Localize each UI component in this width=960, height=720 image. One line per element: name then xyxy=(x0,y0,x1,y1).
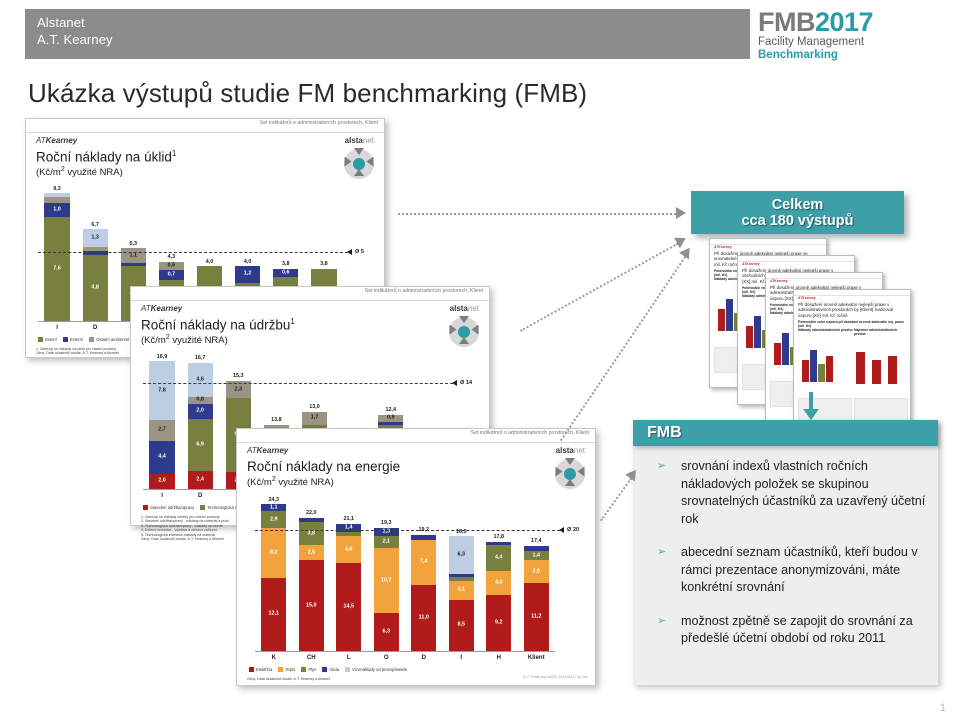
thumb-subtitle: Potenciální roční úspora při dosažení úr… xyxy=(798,320,906,328)
connector-chart2-to-callout xyxy=(520,243,678,332)
legend-swatch xyxy=(345,667,350,672)
fmb-info-panel: FMB ➢srovnání indexů vlastních ročních n… xyxy=(633,420,938,685)
wheel-badge-icon xyxy=(449,317,479,347)
segment-value: 1,4 xyxy=(524,553,549,558)
segment-value: 9,2 xyxy=(486,621,511,626)
legend-swatch xyxy=(278,667,283,672)
alstanet-brand: alstanet xyxy=(345,136,374,145)
segment-value: 0,6 xyxy=(273,270,298,275)
bar-segment: 2,9 xyxy=(261,511,286,529)
plot-area: 1,12,98,212,124,3K3,82,515,022,0CH1,44,6… xyxy=(255,491,555,651)
segment-value: 4,6 xyxy=(336,547,361,552)
bar-segment: 7,8 xyxy=(149,361,174,420)
bar-segment: 4,6 xyxy=(336,536,361,564)
bar-segment: 10,7 xyxy=(374,548,399,613)
x-axis-label: D xyxy=(181,493,219,499)
company-name-line2: A.T. Kearney xyxy=(37,32,113,47)
x-axis-label: K xyxy=(255,655,293,661)
bullet-item: ➢abecední seznam účastníků, kteří budou … xyxy=(647,544,928,597)
segment-value: 4,6 xyxy=(188,377,213,382)
thumb-col-right: Nájemné administrativních prostor xyxy=(854,328,906,336)
average-label: Ø 14 xyxy=(460,380,472,386)
alstanet-brand: alstanet xyxy=(556,446,585,455)
legend-swatch xyxy=(63,337,68,342)
bar-segment: 1,4 xyxy=(524,551,549,559)
logo-subtitle-1: Facility Management xyxy=(758,36,925,49)
bar-segment: 2,5 xyxy=(299,545,324,560)
chart-legend: ElektřinaTeploPlynVodaVícenáklady od pro… xyxy=(249,667,413,672)
bar-segment: 15,0 xyxy=(299,560,324,651)
bar-segment: 7,6 xyxy=(44,217,69,321)
segment-value: 0,6 xyxy=(159,263,184,268)
segment-value: 1,3 xyxy=(83,235,108,240)
bar-segment: 3,8 xyxy=(299,522,324,545)
average-line xyxy=(255,530,560,531)
legend-swatch xyxy=(249,667,254,672)
connector-chart1-to-callout-head xyxy=(676,207,686,219)
company-name-line1: Alstanet xyxy=(37,15,85,30)
bar-segment: 6,3 xyxy=(374,613,399,651)
segment-value: 2,0 xyxy=(188,408,213,413)
bar-segment: 0,6 xyxy=(273,269,298,277)
bullet-text: srovnání indexů vlastních ročních náklad… xyxy=(681,458,928,528)
fmb-panel-header: FMB xyxy=(633,420,938,446)
segment-value: 2,7 xyxy=(149,428,174,433)
segment-value: 7,6 xyxy=(44,266,69,271)
bar-segment: 8,5 xyxy=(449,600,474,651)
chart-title: Roční náklady na energie xyxy=(247,459,400,474)
legend-label: Plyn xyxy=(308,667,316,672)
bar-segment: 1,1 xyxy=(121,248,146,263)
bar-total-value: 19,3 xyxy=(374,520,399,526)
alstanet-brand: alstanet xyxy=(450,304,479,313)
callout-line-1: Celkem xyxy=(691,197,904,213)
chart-title: Roční náklady na údržbu1 xyxy=(141,317,295,333)
segment-value: 8,5 xyxy=(449,623,474,628)
chart-subtitle: (Kč/m2 využité NRA) xyxy=(36,166,123,178)
logo-subtitle-2: Benchmarking xyxy=(758,49,925,62)
segment-value: 1,0 xyxy=(44,207,69,212)
bar-column: 1,07,69,3 xyxy=(44,193,69,321)
bar-total-value: 13,8 xyxy=(264,417,289,423)
thumb-mini-bar xyxy=(754,316,761,348)
bar-segment: 7,4 xyxy=(411,540,436,585)
bar-segment: 6,3 xyxy=(449,536,474,574)
card-topbar-text: Set indikátorů o administrativních prost… xyxy=(260,120,378,126)
thumb-mini-bar xyxy=(888,356,897,384)
bar-column: 1,44,614,521,1 xyxy=(336,524,361,651)
x-axis-label: O xyxy=(368,655,406,661)
bar-segment: 1,3 xyxy=(374,528,399,536)
legend-label: Externí xyxy=(70,337,83,342)
x-axis-label: L xyxy=(330,655,368,661)
bar-segment: 2,0 xyxy=(188,404,213,419)
wheel-badge-icon xyxy=(344,149,374,179)
bar-column: 1,12,98,212,124,3 xyxy=(261,504,286,651)
bar-total-value: 22,0 xyxy=(299,510,324,516)
x-axis-label: I xyxy=(443,655,481,661)
thumb-mini-bar xyxy=(802,360,809,382)
thumb-brand: ATKearney xyxy=(742,262,760,266)
segment-value: 4,4 xyxy=(486,555,511,560)
card-topbar-text: Set indikátorů o administrativních prost… xyxy=(365,288,483,294)
bullet-text: možnost zpětně se zapojit do srovnání za… xyxy=(681,613,928,648)
thumb-mini-bar xyxy=(726,299,733,331)
bar-total-value: 4,0 xyxy=(197,259,222,265)
bar-column: 7,411,019,2 xyxy=(411,535,436,652)
thumb-brand: ATKearney xyxy=(770,279,788,283)
legend-swatch xyxy=(143,505,148,510)
bar-segment: 2,0 xyxy=(149,474,174,489)
card-topbar-text: Set indikátorů o administrativních prost… xyxy=(471,430,589,436)
bullet-marker-icon: ➢ xyxy=(657,545,666,558)
bar-column: 7,82,74,42,016,9 xyxy=(149,361,174,489)
segment-value: 11,0 xyxy=(411,615,436,620)
thumb-mini-bar xyxy=(782,333,789,365)
segment-value: 1,1 xyxy=(121,253,146,258)
bar-total-value: 6,7 xyxy=(83,222,108,228)
bar-segment: 1,7 xyxy=(302,412,327,425)
x-axis-label: D xyxy=(76,325,114,331)
segment-value: 15,0 xyxy=(299,603,324,608)
segment-value: 8,2 xyxy=(261,551,286,556)
x-axis-label: H xyxy=(480,655,518,661)
atkearney-brand: ATKearney xyxy=(247,446,288,455)
bar-segment: 0,9 xyxy=(378,415,403,422)
segment-value: 7,8 xyxy=(149,388,174,393)
bar-total-value: 5,3 xyxy=(121,241,146,247)
page-number: 1 xyxy=(940,702,946,714)
x-axis-label: Klient xyxy=(518,655,556,661)
legend-label: Voda xyxy=(329,667,339,672)
bullet-text: abecední seznam účastníků, kteří budou v… xyxy=(681,544,928,597)
thumb-mini-bar xyxy=(826,356,833,382)
bar-segment: 2,7 xyxy=(149,420,174,440)
segment-value: 3,9 xyxy=(524,569,549,574)
atkearney-brand: ATKearney xyxy=(141,304,182,313)
bar-segment: 2,4 xyxy=(188,471,213,489)
legend-label: Elektřina xyxy=(256,667,272,672)
bar-column: 3,82,515,022,0 xyxy=(299,518,324,651)
bar-segment: 11,0 xyxy=(411,585,436,651)
average-line xyxy=(38,252,348,253)
segment-value: 7,4 xyxy=(411,560,436,565)
bar-column: 1,34,86,7 xyxy=(83,229,108,321)
bar-segment: 4,0 xyxy=(486,571,511,595)
bar-total-value: 21,1 xyxy=(336,516,361,522)
legend-label: Teplo xyxy=(285,667,295,672)
bar-total-value: 16,7 xyxy=(188,355,213,361)
bar-column: 1,32,110,76,319,3 xyxy=(374,528,399,651)
callout-line-2: cca 180 výstupů xyxy=(691,213,904,229)
segment-value: 2,3 xyxy=(226,387,251,392)
bar-segment: 6,9 xyxy=(188,419,213,471)
segment-value: 0,8 xyxy=(188,398,213,403)
bar-segment: 0,7 xyxy=(159,270,184,280)
segment-value: 4,8 xyxy=(83,285,108,290)
bar-segment: 14,5 xyxy=(336,563,361,651)
logo-main-text: FMB xyxy=(758,7,815,37)
bar-segment: 9,2 xyxy=(486,595,511,651)
bar-total-value: 3,8 xyxy=(273,261,298,267)
x-axis-label: I xyxy=(38,325,76,331)
bullet-item: ➢možnost zpětně se zapojit do srovnání z… xyxy=(647,613,928,648)
bar-column: 6,33,18,518,5 xyxy=(449,536,474,651)
bar-segment: 1,0 xyxy=(44,203,69,217)
bar-column: 1,43,911,217,4 xyxy=(524,546,549,651)
segment-value: 6,3 xyxy=(449,553,474,558)
bar-total-value: 17,4 xyxy=(524,538,549,544)
thumb-mini-bar xyxy=(856,352,865,384)
average-line xyxy=(143,383,453,384)
average-label: Ø 20 xyxy=(567,527,579,533)
bar-total-value: 3,8 xyxy=(311,261,336,267)
bar-segment: 12,1 xyxy=(261,578,286,651)
segment-value: 0,7 xyxy=(159,272,184,277)
connector-chart3-to-callout-head xyxy=(679,245,695,260)
thumb-mini-bar xyxy=(774,343,781,365)
chart-legend: InterníExterníOstatní ambientní xyxy=(38,337,135,342)
thumb-mini-bar xyxy=(810,350,817,382)
connector-chart1-to-callout xyxy=(398,213,676,215)
card-topbar: Set indikátorů o administrativních prost… xyxy=(26,119,384,133)
bar-total-value: 24,3 xyxy=(261,497,286,503)
bar-total-value: 17,8 xyxy=(486,534,511,540)
x-axis-label: D xyxy=(405,655,443,661)
segment-value: 3,8 xyxy=(299,531,324,536)
segment-value: 4,0 xyxy=(486,581,511,586)
legend-swatch xyxy=(200,505,205,510)
bar-segment: 1,2 xyxy=(235,266,260,282)
x-axis xyxy=(255,651,555,652)
connector-chart3-to-callout xyxy=(560,256,686,441)
thumb-mini-bar xyxy=(746,326,753,348)
bullet-marker-icon: ➢ xyxy=(657,614,666,627)
thumb-brand: ATKearney xyxy=(798,296,816,300)
bar-total-value: 4,3 xyxy=(159,254,184,260)
thumb-mini-bar xyxy=(872,360,881,384)
segment-value: 10,7 xyxy=(374,578,399,583)
segment-value: 1,2 xyxy=(235,272,260,277)
thumb-title: Při dosažení úrovně adekvátní nejlepší p… xyxy=(798,302,906,318)
x-axis-label: CH xyxy=(293,655,331,661)
card-topbar: Set indikátorů o administrativních prost… xyxy=(131,287,489,301)
chart-subtitle: (Kč/m2 využité NRA) xyxy=(141,334,228,346)
fmb-panel-heading: FMB xyxy=(647,424,682,442)
segment-value: 2,5 xyxy=(299,550,324,555)
average-label: Ø 5 xyxy=(355,249,364,255)
x-axis-label: I xyxy=(143,493,181,499)
chart-title: Roční náklady na úklid1 xyxy=(36,149,176,165)
bar-total-value: 16,9 xyxy=(149,354,174,360)
bullet-marker-icon: ➢ xyxy=(657,459,666,472)
bar-segment: 11,2 xyxy=(524,583,549,651)
bar-column: 4,44,09,217,8 xyxy=(486,542,511,651)
bar-segment: 1,1 xyxy=(261,504,286,511)
segment-value: 2,9 xyxy=(261,517,286,522)
fmb-logo: FMB2017 Facility Management Benchmarking xyxy=(750,8,925,63)
bar-segment: 4,6 xyxy=(188,363,213,398)
bar-segment: 8,2 xyxy=(261,528,286,578)
legend-swatch xyxy=(38,337,43,342)
chart-subtitle: (Kč/m2 využité NRA) xyxy=(247,476,334,488)
legend-label: Interní xyxy=(45,337,57,342)
legend-label: Ostatní ambientní xyxy=(96,337,129,342)
segment-value: 14,5 xyxy=(336,605,361,610)
segment-value: 1,7 xyxy=(302,416,327,421)
callout-total-outputs: Celkem cca 180 výstupů xyxy=(691,191,904,234)
legend-swatch xyxy=(322,667,327,672)
legend-swatch xyxy=(89,337,94,342)
wheel-badge-icon xyxy=(555,459,585,489)
legend-label: Stavební údržba/opravy xyxy=(150,505,194,510)
segment-value: 12,1 xyxy=(261,612,286,617)
bar-segment: 4,4 xyxy=(486,545,511,572)
bar-segment: 4,4 xyxy=(149,441,174,474)
bar-total-value: 4,0 xyxy=(235,259,260,265)
segment-value: 6,3 xyxy=(374,629,399,634)
segment-value: 4,4 xyxy=(149,455,174,460)
thumb-mini-bar xyxy=(818,364,825,382)
page-title: Ukázka výstupů studie FM benchmarking (F… xyxy=(28,78,587,109)
thumb-mini-bar xyxy=(718,309,725,331)
legend-label: Vícenáklady od pronajímatele xyxy=(352,667,407,672)
segment-value: 2,0 xyxy=(149,479,174,484)
segment-value: 11,2 xyxy=(524,614,549,619)
bar-segment: 2,1 xyxy=(374,536,399,549)
bullet-item: ➢srovnání indexů vlastních ročních nákla… xyxy=(647,458,928,528)
bar-total-value: 13,0 xyxy=(302,404,327,410)
segment-value: 0,9 xyxy=(378,416,403,421)
card-topbar: Set indikátorů o administrativních prost… xyxy=(237,429,595,443)
bar-segment: 1,3 xyxy=(83,229,108,247)
bar-total-value: 12,4 xyxy=(378,407,403,413)
bar-segment: 4,8 xyxy=(83,255,108,321)
bar-column: 4,60,82,06,92,416,7 xyxy=(188,363,213,489)
connector-chart3-to-panel xyxy=(600,478,632,521)
fmb-bullet-list: ➢srovnání indexů vlastních ročních nákla… xyxy=(647,458,928,664)
segment-value: 2,1 xyxy=(374,539,399,544)
atkearney-brand: ATKearney xyxy=(36,136,77,145)
segment-value: 6,9 xyxy=(188,442,213,447)
bar-segment: 3,9 xyxy=(524,560,549,584)
segment-value: 1,1 xyxy=(261,505,286,510)
thumb-brand: ATKearney xyxy=(714,245,732,249)
bar-total-value: 9,3 xyxy=(44,186,69,192)
segment-value: 3,1 xyxy=(449,588,474,593)
bar-segment: 3,1 xyxy=(449,581,474,600)
slide: Alstanet A.T. Kearney FMB2017 Facility M… xyxy=(0,0,960,720)
card-page-footer: A.T. Kearney 44/01.2016/01271p 46 xyxy=(523,674,587,679)
bar-segment: 0,6 xyxy=(159,262,184,270)
legend-swatch xyxy=(301,667,306,672)
chart-card-energie: Set indikátorů o administrativních prost… xyxy=(236,428,596,686)
logo-year-text: 2017 xyxy=(815,7,873,37)
segment-value: 2,4 xyxy=(188,477,213,482)
bar-total-value: 15,3 xyxy=(226,373,251,379)
